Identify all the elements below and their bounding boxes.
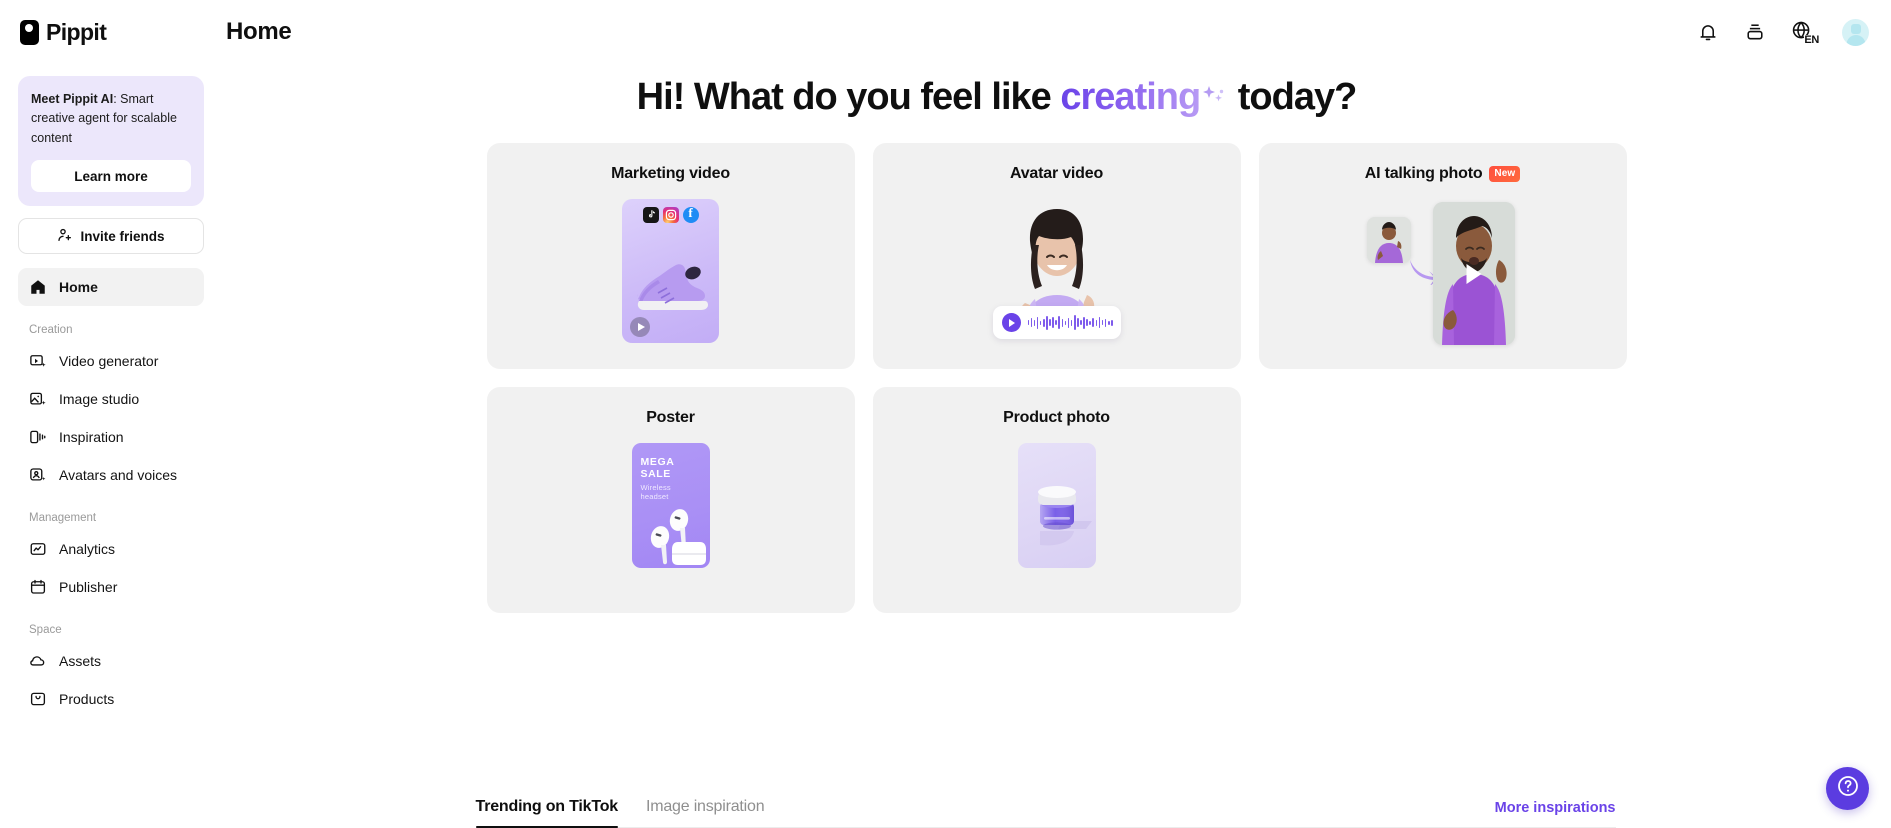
inspiration-tabs: Trending on TikTok Image inspiration Mor… [476, 788, 1616, 828]
nav-group-space: Space [18, 624, 204, 636]
instagram-icon [663, 207, 679, 223]
marketing-video-thumb [622, 199, 719, 343]
thumb-avatar-video [873, 199, 1241, 369]
user-plus-icon [57, 227, 73, 246]
sidebar-item-publisher[interactable]: Publisher [18, 568, 204, 606]
facebook-icon [683, 207, 699, 223]
invite-friends-label: Invite friends [80, 229, 164, 244]
tiktok-icon [643, 207, 659, 223]
sidebar-item-image-studio[interactable]: Image studio [18, 380, 204, 418]
image-studio-icon [29, 390, 47, 408]
language-globe-icon[interactable]: EN [1791, 20, 1817, 44]
sidebar-item-label-video-generator: Video generator [59, 353, 158, 369]
inspiration-icon [29, 428, 47, 446]
creation-card-grid: Marketing video [487, 143, 1627, 613]
audio-player-bar[interactable] [993, 306, 1121, 339]
avatar-voice-icon [29, 466, 47, 484]
sidebar-item-label-avatars-and-voices: Avatars and voices [59, 467, 177, 483]
help-question-icon [1836, 774, 1860, 803]
card-title-avatar-video: Avatar video [873, 143, 1241, 183]
promo-card: Meet Pippit AI: Smart creative agent for… [18, 76, 204, 206]
hero-text-part1: Hi! What do you feel like [637, 76, 1061, 118]
tab-trending-on-tiktok[interactable]: Trending on TikTok [476, 798, 618, 827]
thumb-marketing-video [487, 199, 855, 369]
sidebar-item-analytics[interactable]: Analytics [18, 530, 204, 568]
avatar-video-thumb [997, 199, 1117, 345]
card-product-photo[interactable]: Product photo [873, 387, 1241, 613]
app-root: Pippit Meet Pippit AI: Smart creative ag… [0, 0, 1891, 828]
brand-logo[interactable]: Pippit [18, 0, 204, 64]
card-marketing-video[interactable]: Marketing video [487, 143, 855, 369]
card-ai-talking-photo[interactable]: AI talking photo New [1259, 143, 1627, 369]
play-icon[interactable] [1002, 313, 1021, 332]
cloud-assets-icon [29, 652, 47, 670]
sidebar-item-assets[interactable]: Assets [18, 642, 204, 680]
social-icons [643, 207, 699, 223]
promo-text: Meet Pippit AI: Smart creative agent for… [31, 90, 191, 148]
audio-waveform-icon [1028, 315, 1113, 331]
promo-title-bold: Meet Pippit AI [31, 92, 113, 106]
nav-group-management: Management [18, 512, 204, 524]
sidebar-item-label-publisher: Publisher [59, 579, 117, 595]
thumb-poster: MEGA SALE Wireless headset [487, 443, 855, 613]
notification-bell-icon[interactable] [1697, 21, 1719, 43]
sparkle-icon [1200, 78, 1228, 108]
main-content: Home [222, 0, 1891, 828]
sidebar-item-label-products: Products [59, 691, 114, 707]
sidebar-item-label-inspiration: Inspiration [59, 429, 124, 445]
video-generator-icon [29, 352, 47, 370]
learn-more-button[interactable]: Learn more [31, 160, 191, 192]
sidebar-item-label-home: Home [59, 279, 98, 295]
sidebar-item-inspiration[interactable]: Inspiration [18, 418, 204, 456]
sidebar-item-label-analytics: Analytics [59, 541, 115, 557]
topbar-actions: EN [1697, 19, 1869, 46]
play-icon [1466, 264, 1481, 284]
avatar[interactable] [1842, 19, 1869, 46]
invite-friends-button[interactable]: Invite friends [18, 218, 204, 254]
sidebar-item-avatars-and-voices[interactable]: Avatars and voices [18, 456, 204, 494]
card-poster[interactable]: Poster MEGA SALE Wireless headset [487, 387, 855, 613]
sidebar-item-home[interactable]: Home [18, 268, 204, 306]
result-video [1433, 202, 1515, 345]
nav-group-creation: Creation [18, 324, 204, 336]
product-photo-thumb [1018, 443, 1096, 568]
talking-photo-thumb [1363, 199, 1523, 349]
credits-stack-icon[interactable] [1744, 21, 1766, 43]
more-inspirations-link[interactable]: More inspirations [1495, 800, 1616, 827]
brand-name: Pippit [46, 19, 106, 46]
card-title-product-photo: Product photo [873, 387, 1241, 427]
sidebar-nav: Home Creation Video generator [18, 268, 204, 718]
card-avatar-video[interactable]: Avatar video [873, 143, 1241, 369]
sidebar-item-label-assets: Assets [59, 653, 101, 669]
card-title-marketing-video: Marketing video [487, 143, 855, 183]
status-badge-new: New [1489, 166, 1520, 182]
hero-text-part2: today? [1228, 76, 1356, 118]
page-title: Home [226, 18, 291, 46]
sneaker-image [630, 257, 710, 315]
cosmetic-jar-image [1018, 443, 1096, 568]
products-box-icon [29, 690, 47, 708]
pippit-logo-icon [20, 20, 39, 45]
poster-thumb: MEGA SALE Wireless headset [632, 443, 710, 568]
language-code: EN [1804, 35, 1819, 46]
source-photo [1367, 217, 1411, 263]
card-title-text: AI talking photo [1365, 165, 1483, 183]
publisher-calendar-icon [29, 578, 47, 596]
hero-highlight: creating [1060, 76, 1200, 118]
topbar: Home [222, 0, 1891, 64]
tab-image-inspiration[interactable]: Image inspiration [646, 798, 764, 827]
sidebar-item-products[interactable]: Products [18, 680, 204, 718]
thumb-product-photo [873, 443, 1241, 613]
thumb-ai-talking-photo [1259, 199, 1627, 369]
analytics-icon [29, 540, 47, 558]
help-button[interactable] [1826, 767, 1869, 810]
sidebar-item-video-generator[interactable]: Video generator [18, 342, 204, 380]
card-title-poster: Poster [487, 387, 855, 427]
card-title-ai-talking-photo: AI talking photo New [1259, 143, 1627, 183]
home-icon [29, 278, 47, 296]
poster-headline: MEGA SALE [641, 456, 701, 480]
bottom-section: Trending on TikTok Image inspiration Mor… [222, 788, 1891, 828]
earbuds-image [632, 494, 710, 566]
play-icon [630, 317, 650, 337]
sidebar: Pippit Meet Pippit AI: Smart creative ag… [0, 0, 222, 828]
sidebar-item-label-image-studio: Image studio [59, 391, 139, 407]
hero-heading: Hi! What do you feel like creating today… [222, 76, 1891, 119]
